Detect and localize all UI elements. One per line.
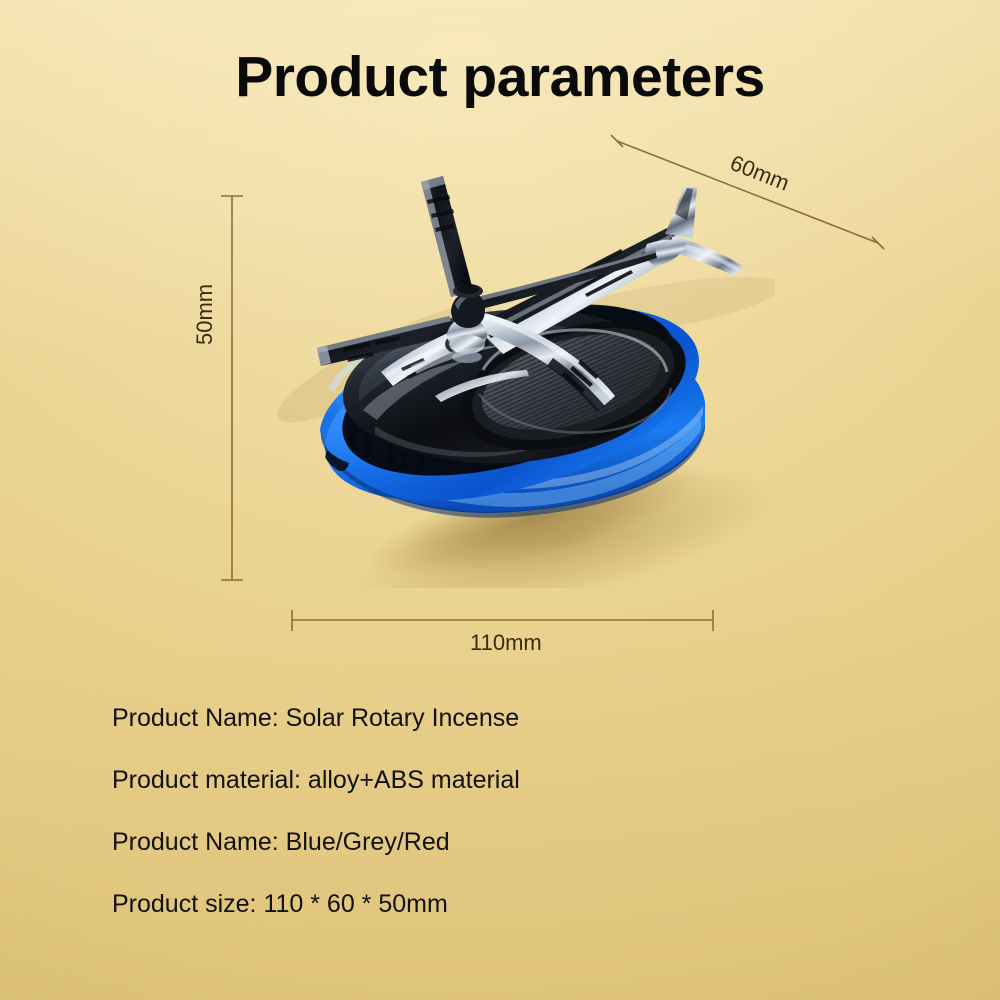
product-spec-list: Product Name: Solar Rotary Incense Produ… [112,706,812,917]
dimension-label-width: 110mm [470,630,542,656]
dimension-line-depth [611,135,884,249]
spec-line-product-color: Product Name: Blue/Grey/Red [112,830,812,855]
dimension-label-height: 50mm [192,284,218,345]
spec-line-product-name: Product Name: Solar Rotary Incense [112,706,812,731]
dimension-line-height [221,196,243,580]
spec-line-product-size: Product size: 110 * 60 * 50mm [112,892,812,917]
product-parameters-page: Product parameters [0,0,1000,1000]
dimension-line-width [292,610,713,631]
spec-line-product-material: Product material: alloy+ABS material [112,768,812,793]
